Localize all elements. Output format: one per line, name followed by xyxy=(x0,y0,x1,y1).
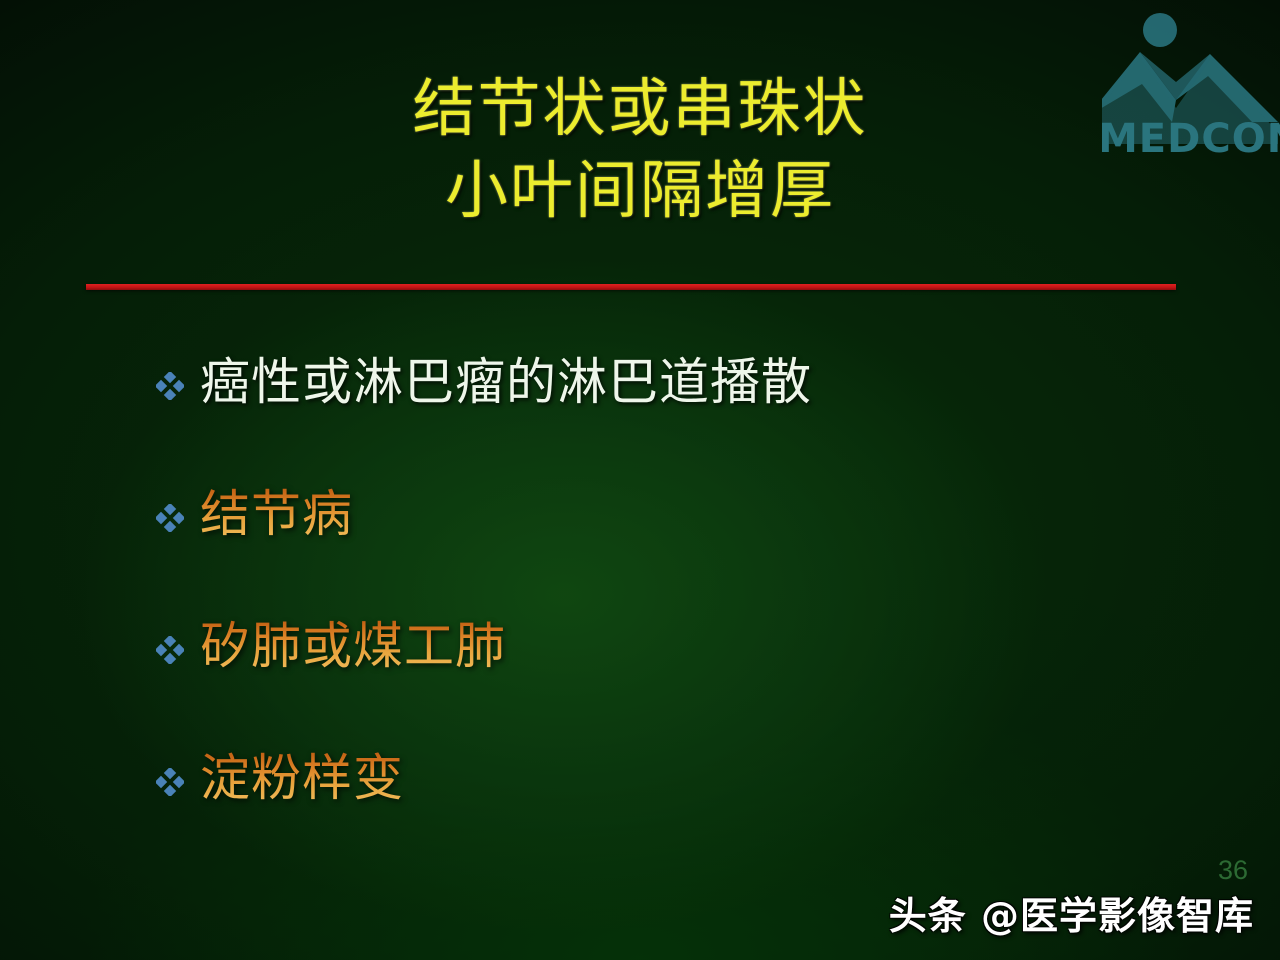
list-item: 矽肺或煤工肺 xyxy=(156,580,1216,712)
slide-title: 结节状或串珠状 小叶间隔增厚 xyxy=(0,68,1280,232)
list-item-label: 癌性或淋巴瘤的淋巴道播散 xyxy=(200,356,812,409)
diamond-cluster-bullet-icon xyxy=(156,372,184,400)
diamond-cluster-bullet-icon xyxy=(156,504,184,532)
slide-title-line-1: 结节状或串珠状 xyxy=(0,68,1280,150)
bullet-list: 癌性或淋巴瘤的淋巴道播散 结节病 xyxy=(156,316,1216,844)
list-item-label: 淀粉样变 xyxy=(200,752,404,805)
title-divider xyxy=(86,284,1176,290)
list-item-label: 矽肺或煤工肺 xyxy=(200,620,506,673)
slide-title-line-2: 小叶间隔增厚 xyxy=(0,150,1280,232)
list-item-label: 结节病 xyxy=(200,488,353,541)
watermark-text: 头条 @医学影像智库 xyxy=(889,885,1254,940)
diamond-cluster-bullet-icon xyxy=(156,768,184,796)
list-item: 癌性或淋巴瘤的淋巴道播散 xyxy=(156,316,1216,448)
list-item: 结节病 xyxy=(156,448,1216,580)
list-item: 淀粉样变 xyxy=(156,712,1216,844)
page-number: 36 xyxy=(1218,855,1248,886)
presentation-slide: MEDCON 结节状或串珠状 小叶间隔增厚 癌性或淋巴瘤的淋巴道播散 xyxy=(0,0,1280,960)
diamond-cluster-bullet-icon xyxy=(156,636,184,664)
